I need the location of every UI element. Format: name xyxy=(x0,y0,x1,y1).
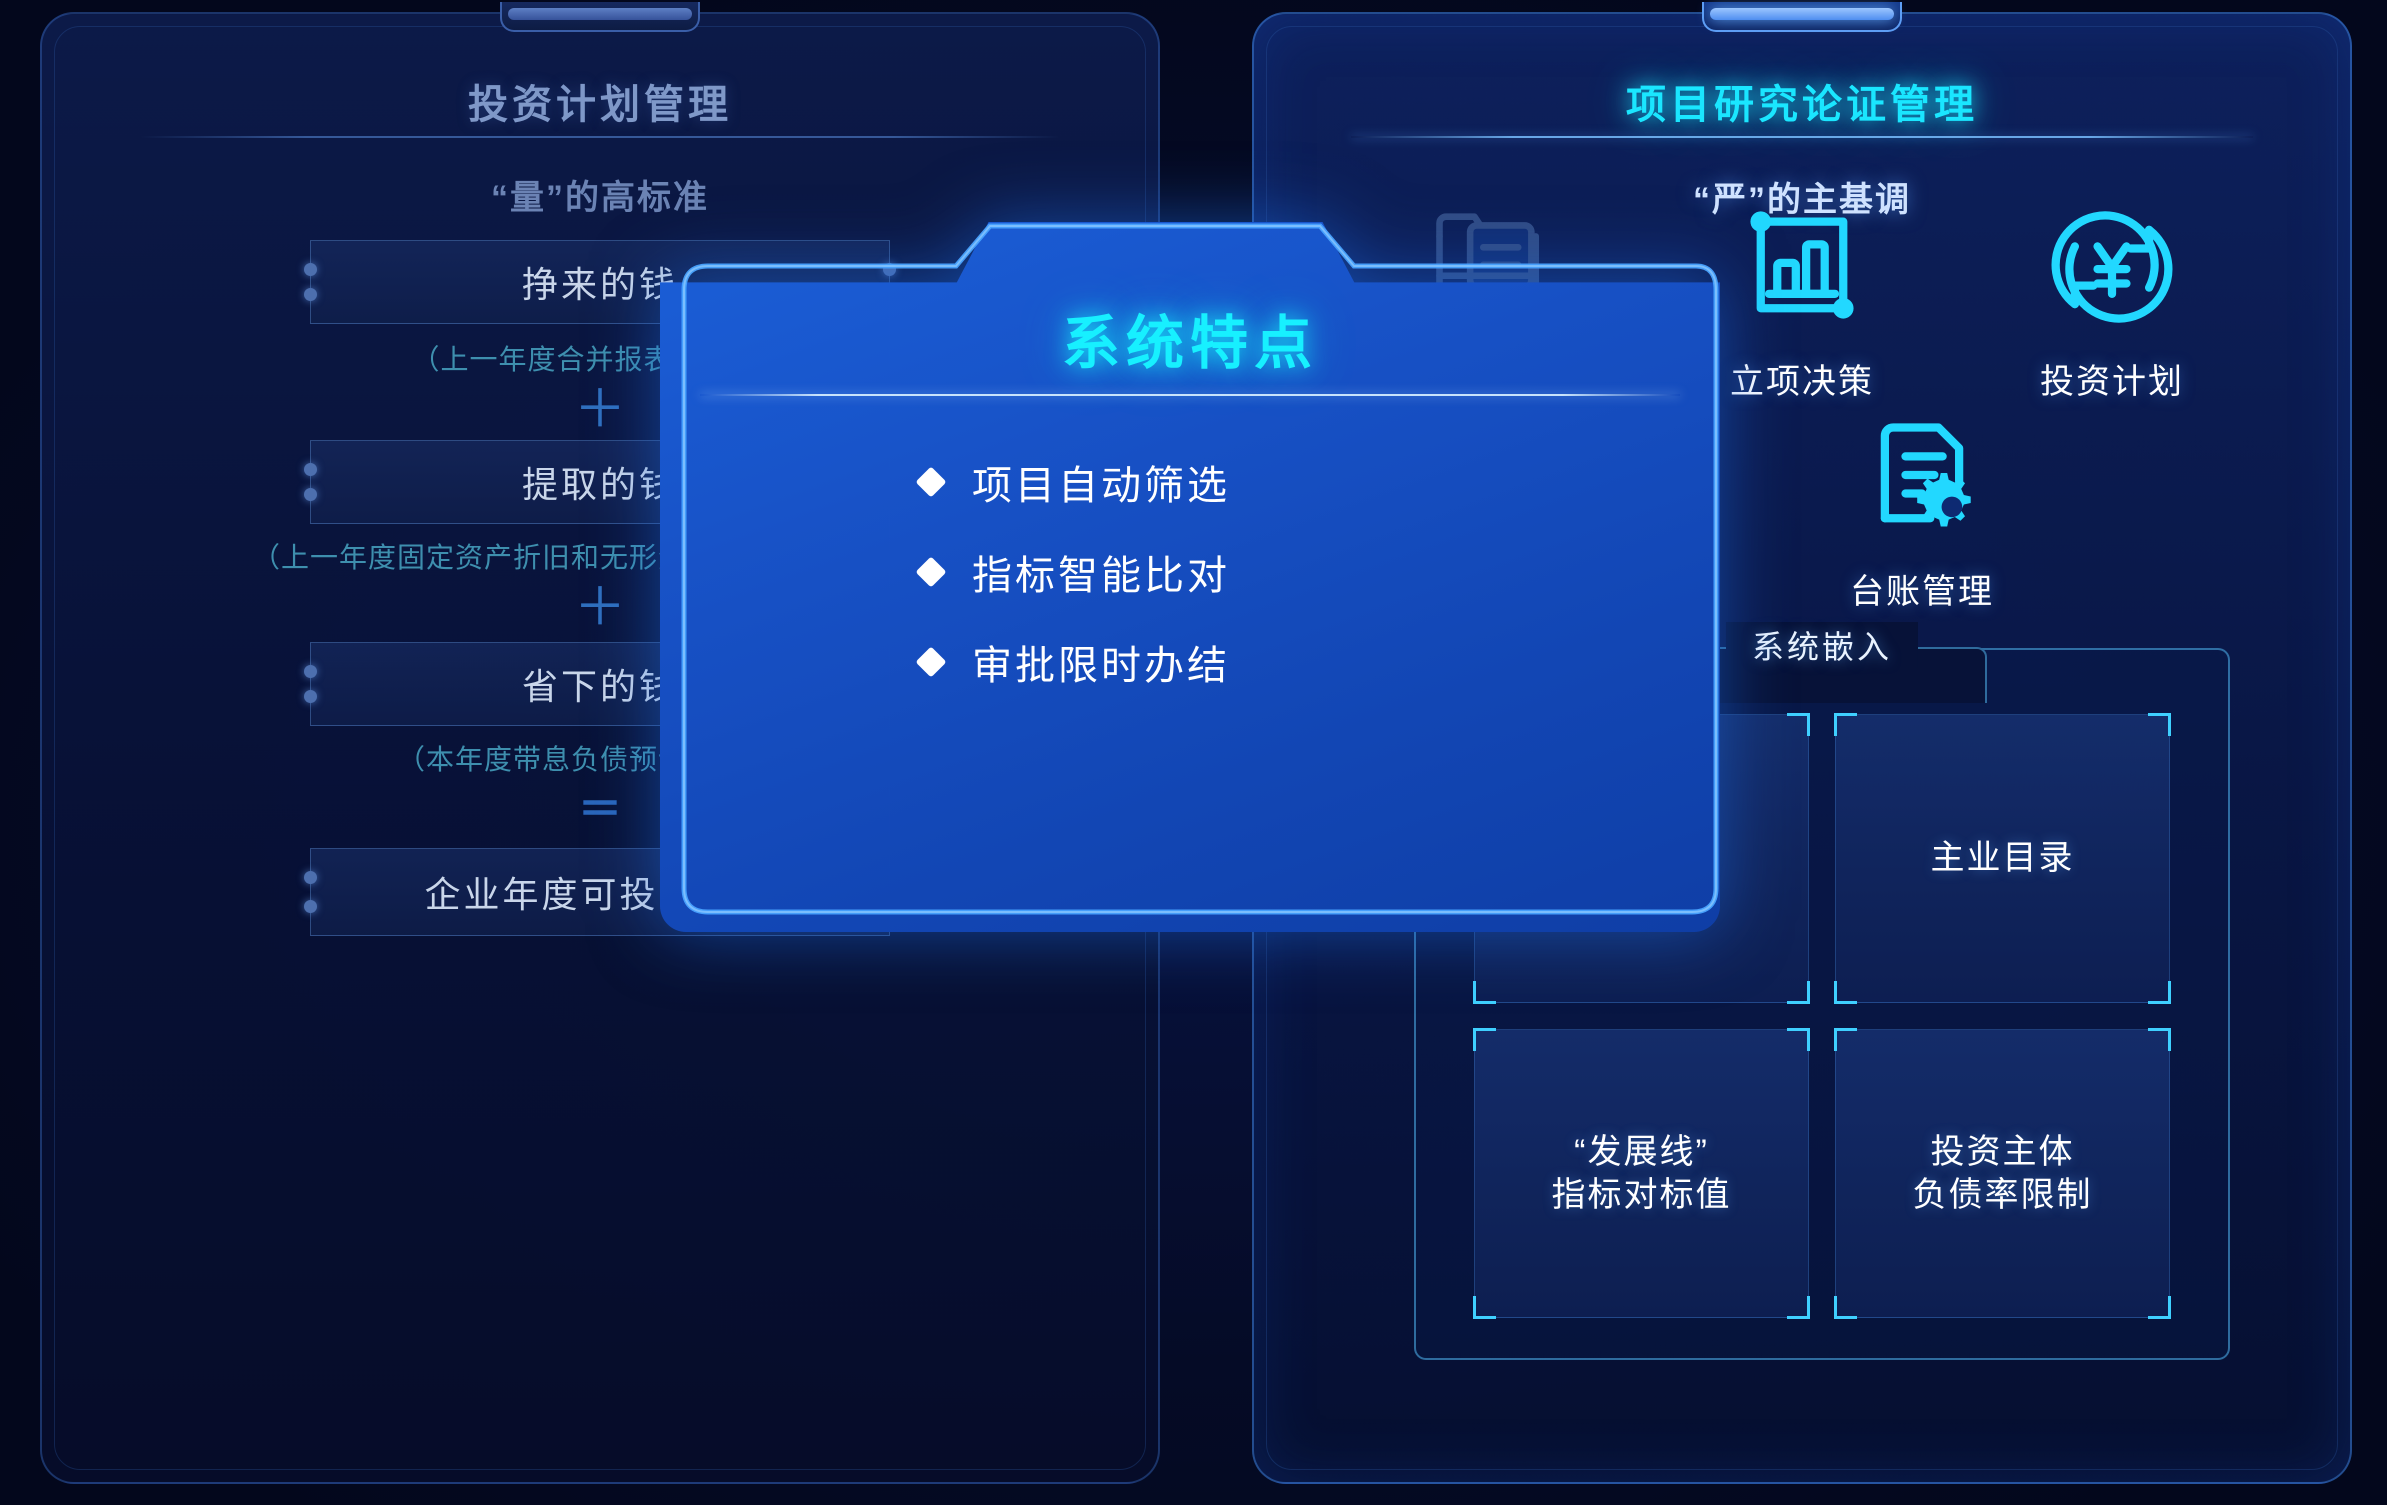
flow-operator-2: ＋ xyxy=(574,582,626,634)
flow-dot-icon xyxy=(304,665,317,678)
flow-operator-3: ＝ xyxy=(578,788,622,832)
icon-label: 台账管理 xyxy=(1792,564,2052,613)
embed-card-main-business-catalog[interactable]: 主业目录 xyxy=(1835,714,2170,1003)
diamond-bullet-icon xyxy=(915,646,946,677)
flow-box-label: 省下的钱 xyxy=(522,658,678,710)
flow-operator-1: ＋ xyxy=(574,384,626,436)
modal-feature-label: 审批限时办结 xyxy=(972,633,1230,691)
modal-feature-label: 项目自动筛选 xyxy=(972,453,1230,511)
left-panel-top-notch xyxy=(500,2,700,32)
diamond-bullet-icon xyxy=(915,466,946,497)
yuan-refresh-icon xyxy=(1982,192,2242,342)
icon-label: 投资计划 xyxy=(1982,354,2242,403)
modal-feature-label: 指标智能比对 xyxy=(972,543,1230,601)
icon-item-ledger-management[interactable]: 台账管理 xyxy=(1792,402,2052,613)
modal-feature-item[interactable]: 指标智能比对 xyxy=(660,542,1720,602)
flow-dot-icon xyxy=(304,263,317,276)
left-panel-title-rule xyxy=(141,136,1059,138)
flow-dot-icon xyxy=(304,288,317,301)
flow-dot-icon xyxy=(304,690,317,703)
modal-title: 系统特点 xyxy=(660,296,1720,380)
embed-card-label-line2: 负债率限制 xyxy=(1913,1174,2093,1217)
right-panel-top-notch xyxy=(1702,2,1902,32)
embed-card-label-line1: 投资主体 xyxy=(1913,1131,2093,1174)
flow-dot-icon xyxy=(304,871,317,884)
left-panel-subtitle: “量”的高标准 xyxy=(40,170,1160,219)
right-panel-title-rule xyxy=(1351,136,2253,138)
flow-dot-icon xyxy=(304,463,317,476)
modal-feature-item[interactable]: 项目自动筛选 xyxy=(660,452,1720,512)
modal-title-divider xyxy=(700,394,1680,396)
embed-card-label-line2: 指标对标值 xyxy=(1552,1174,1732,1217)
modal-feature-list: 项目自动筛选 指标智能比对 审批限时办结 xyxy=(660,452,1720,722)
embed-card-label: 主业目录 xyxy=(1931,837,2075,880)
embed-card-development-line[interactable]: “发展线” 指标对标值 xyxy=(1474,1029,1809,1318)
flow-box-label: 挣来的钱 xyxy=(522,256,678,308)
embed-card-label-line1: “发展线” xyxy=(1552,1131,1732,1174)
flow-dot-icon xyxy=(304,900,317,913)
system-features-modal[interactable]: 系统特点 项目自动筛选 指标智能比对 审批限时办结 xyxy=(660,222,1720,932)
right-panel-title: 项目研究论证管理 xyxy=(1252,72,2352,130)
system-embed-legend: 系统嵌入 xyxy=(1726,622,1918,668)
embed-card-investor-debt-ratio[interactable]: 投资主体 负债率限制 xyxy=(1835,1029,2170,1318)
modal-feature-item[interactable]: 审批限时办结 xyxy=(660,632,1720,692)
document-gear-icon xyxy=(1792,402,2052,552)
left-panel-title: 投资计划管理 xyxy=(40,72,1160,130)
icon-item-investment-plan[interactable]: 投资计划 xyxy=(1982,192,2242,403)
flow-box-label: 提取的钱 xyxy=(522,456,678,508)
slide-canvas: 投资计划管理 “量”的高标准 挣来的钱 （上一年度合并报表净利润） ＋ 提取的钱… xyxy=(0,0,2387,1505)
flow-dot-icon xyxy=(304,488,317,501)
diamond-bullet-icon xyxy=(915,556,946,587)
